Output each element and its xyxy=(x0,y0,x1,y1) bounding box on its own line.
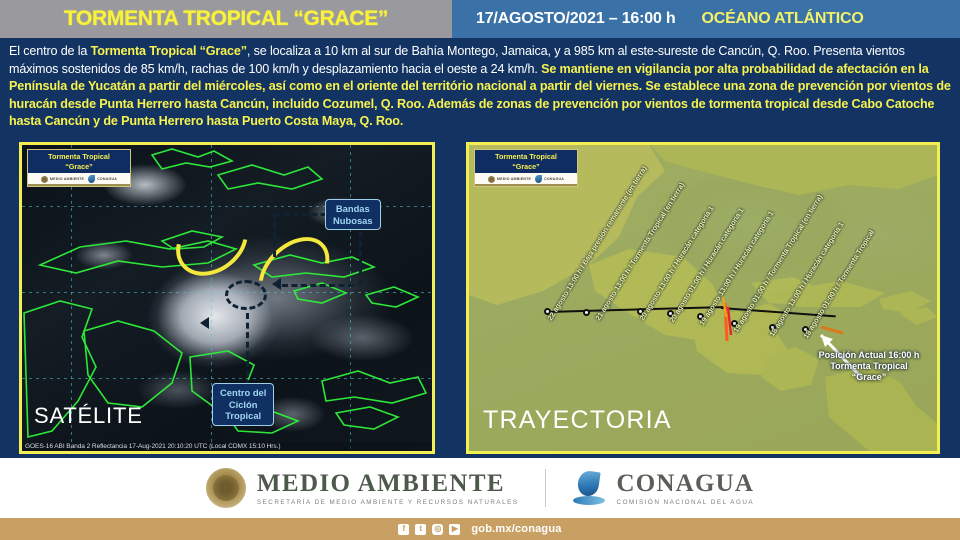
footer-divider xyxy=(545,469,546,507)
satellite-panel-title: SATÉLITE xyxy=(34,403,143,429)
chip-brands: MEDIO AMBIENTE CONAGUA xyxy=(28,173,130,184)
chip-brand-conagua-t: CONAGUA xyxy=(535,175,564,183)
summary-paragraph: El centro de la Tormenta Tropical “Grace… xyxy=(9,43,951,131)
current-position-line3: “Grace” xyxy=(799,372,939,383)
panel-logo-chip: Tormenta Tropical “Grace” MEDIO AMBIENTE… xyxy=(27,149,131,187)
conagua-water-drop-icon xyxy=(572,469,606,507)
header-bar: TORMENTA TROPICAL “GRACE” 17/AGOSTO/2021… xyxy=(0,0,960,38)
chip-title-line1: Tormenta Tropical xyxy=(29,152,129,162)
mexico-coat-of-arms-icon xyxy=(206,468,246,508)
chip-brand-conagua: CONAGUA xyxy=(88,175,117,183)
chip-brands-trajectory: MEDIO AMBIENTE CONAGUA xyxy=(475,173,577,184)
water-drop-icon xyxy=(88,175,95,183)
satellite-credit: GOES-16 ABI Banda 2 Reflectancia 17-Aug-… xyxy=(22,442,432,451)
trajectory-panel[interactable]: 22 agosto 13:00 h / Baja presión remanen… xyxy=(466,142,940,454)
chip-rule xyxy=(28,184,130,186)
leader-bandas-right xyxy=(359,231,362,285)
callout-bandas-line2: Nubosas xyxy=(333,215,373,227)
leader-bandas-mid xyxy=(282,284,354,287)
leader-centro xyxy=(246,313,249,386)
footer-org1-sub: SECRETARÍA DE MEDIO AMBIENTE Y RECURSOS … xyxy=(257,499,519,506)
header-meta: 17/AGOSTO/2021 – 16:00 h OCÉANO ATLÁNTIC… xyxy=(452,0,960,38)
header-storm-name: TORMENTA TROPICAL “GRACE” xyxy=(0,0,452,38)
website-handle[interactable]: gob.mx/conagua xyxy=(471,523,561,535)
footer-org1-name: MEDIO AMBIENTE xyxy=(257,470,505,497)
callout-centro-line2: Ciclón xyxy=(220,399,266,411)
chip-brand2-label-t: CONAGUA xyxy=(544,177,564,181)
instagram-icon[interactable]: ◎ xyxy=(432,524,443,535)
chip-title: Tormenta Tropical “Grace” xyxy=(28,150,130,173)
callout-bandas-nubosas: Bandas Nubosas xyxy=(325,199,381,230)
leader-bandas-drop xyxy=(273,213,276,257)
infographic-root: TORMENTA TROPICAL “GRACE” 17/AGOSTO/2021… xyxy=(0,0,960,540)
chip-brand-medio-ambiente-t: MEDIO AMBIENTE xyxy=(488,176,531,183)
panels-row: Tormenta Tropical “Grace” MEDIO AMBIENTE… xyxy=(0,140,960,458)
chip-brand1-label: MEDIO AMBIENTE xyxy=(50,177,84,181)
callout-bandas-line1: Bandas xyxy=(333,203,373,215)
chip-title-line1-t: Tormenta Tropical xyxy=(476,152,576,162)
current-position-line2: Tormenta Tropical xyxy=(799,361,939,372)
trajectory-panel-title: TRAYECTORIA xyxy=(483,406,672,435)
social-bar: f t ◎ ▶ gob.mx/conagua xyxy=(0,518,960,540)
leader-arrow-west xyxy=(200,317,209,329)
current-position-callout: Posición Actual 16:00 h Tormenta Tropica… xyxy=(799,350,939,383)
footer-org2-sub: COMISIÓN NACIONAL DEL AGUA xyxy=(617,499,755,506)
footer-medio-ambiente: MEDIO AMBIENTE SECRETARÍA DE MEDIO AMBIE… xyxy=(206,468,519,508)
chip-rule-t xyxy=(475,184,577,186)
twitter-icon[interactable]: t xyxy=(415,524,426,535)
summary-highlight: Tormenta Tropical “Grace” xyxy=(91,44,247,58)
facebook-icon[interactable]: f xyxy=(398,524,409,535)
storm-title: TORMENTA TROPICAL “GRACE” xyxy=(64,7,388,31)
summary-plain: El centro de la xyxy=(9,44,91,58)
callout-centro-line3: Tropical xyxy=(220,410,266,422)
footer-brand-bar: MEDIO AMBIENTE SECRETARÍA DE MEDIO AMBIE… xyxy=(0,458,960,518)
national-seal-icon xyxy=(41,176,48,183)
current-position-line1: Posición Actual 16:00 h xyxy=(799,350,939,361)
national-seal-icon-t xyxy=(488,176,495,183)
chip-brand-medio-ambiente: MEDIO AMBIENTE xyxy=(41,176,84,183)
chip-brand2-label: CONAGUA xyxy=(97,177,117,181)
chip-brand1-label-t: MEDIO AMBIENTE xyxy=(497,177,531,181)
chip-title-trajectory: Tormenta Tropical “Grace” xyxy=(475,150,577,173)
footer-org2-name: CONAGUA xyxy=(617,470,755,497)
youtube-icon[interactable]: ▶ xyxy=(449,524,460,535)
ocean-basin: OCÉANO ATLÁNTICO xyxy=(701,10,863,28)
cyclone-eye-marker xyxy=(225,280,267,310)
leader-arrow-mid xyxy=(272,278,281,290)
summary-text-block: El centro de la Tormenta Tropical “Grace… xyxy=(0,38,960,136)
panel-logo-chip-trajectory: Tormenta Tropical “Grace” MEDIO AMBIENTE… xyxy=(474,149,578,187)
satellite-panel[interactable]: Tormenta Tropical “Grace” MEDIO AMBIENTE… xyxy=(19,142,435,454)
footer-conagua: CONAGUA COMISIÓN NACIONAL DEL AGUA xyxy=(572,469,755,507)
callout-centro-ciclon: Centro del Ciclón Tropical xyxy=(212,383,274,426)
water-drop-icon-t xyxy=(535,175,542,183)
chip-title-line2: “Grace” xyxy=(29,162,129,172)
issue-datetime: 17/AGOSTO/2021 – 16:00 h xyxy=(476,10,675,28)
chip-title-line2-t: “Grace” xyxy=(476,162,576,172)
callout-centro-line1: Centro del xyxy=(220,387,266,399)
